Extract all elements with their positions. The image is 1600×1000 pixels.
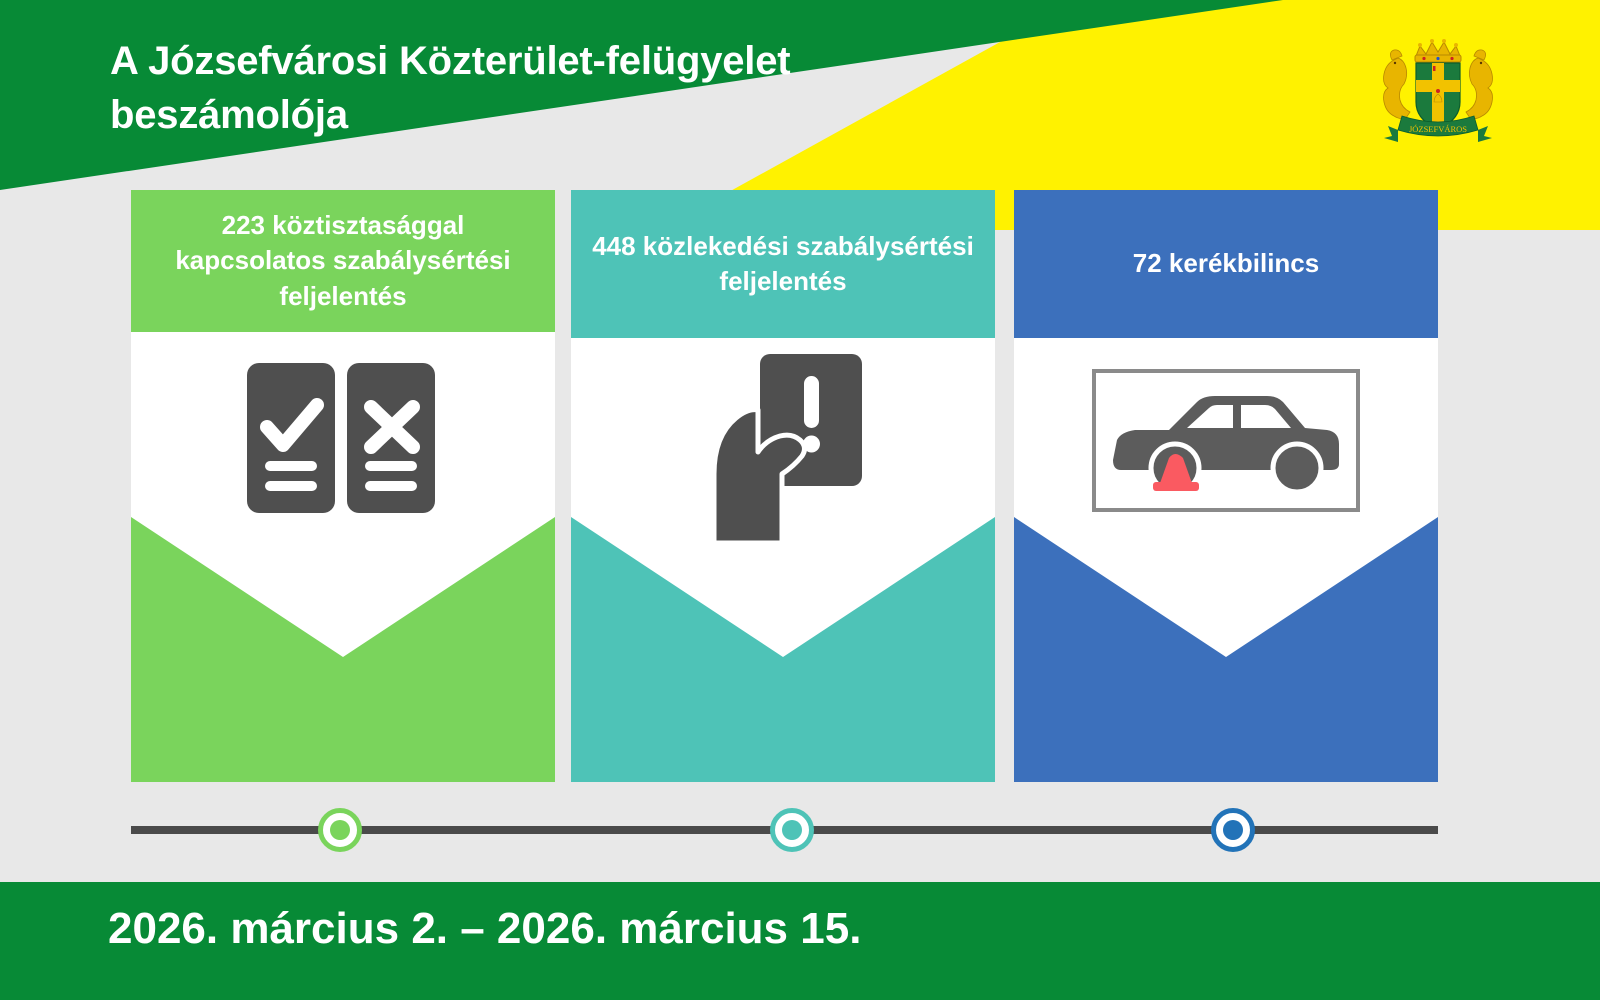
stat-card-koztisztasag[interactable]: 223 köztisztasággal kapcsolatos szabálys… bbox=[131, 190, 555, 782]
timeline-marker-2[interactable] bbox=[770, 808, 814, 852]
page-title: A Józsefvárosi Közterület-felügyelet bes… bbox=[110, 34, 790, 142]
jozsefvaros-coat-of-arms-icon: JÓZSEFVÁROS bbox=[1358, 30, 1518, 150]
stat-card-kozlekedes[interactable]: 448 közlekedési szabálysértési feljelent… bbox=[571, 190, 995, 782]
stat-card-kozlekedes-chevron bbox=[571, 517, 995, 782]
car-wheel-rear bbox=[1273, 444, 1321, 492]
shield-icon bbox=[1416, 63, 1460, 129]
timeline-marker-3-core bbox=[1223, 820, 1243, 840]
reject-line-1 bbox=[365, 461, 417, 471]
wheel-clamp-base bbox=[1153, 482, 1199, 491]
stat-card-kozlekedes-icon-wrap bbox=[571, 340, 995, 555]
stat-card-koztisztasag-chevron bbox=[131, 517, 555, 782]
timeline-bar bbox=[131, 826, 1438, 834]
hand-holding-warning-ticket-icon bbox=[696, 348, 871, 548]
stat-card-kerekbilincs-label: 72 kerékbilincs bbox=[1014, 190, 1438, 338]
page-title-line-1: A Józsefvárosi Közterület-felügyelet bbox=[110, 34, 790, 88]
stat-card-koztisztasag-label: 223 köztisztasággal kapcsolatos szabálys… bbox=[131, 190, 555, 332]
page-title-line-2: beszámolója bbox=[110, 88, 790, 142]
crest-banner-text: JÓZSEFVÁROS bbox=[1409, 124, 1467, 134]
stat-card-kozlekedes-label: 448 közlekedési szabálysértési feljelent… bbox=[571, 190, 995, 338]
approve-line-1 bbox=[265, 461, 317, 471]
stat-card-kerekbilincs[interactable]: 72 kerékbilincs bbox=[1014, 190, 1438, 782]
crown-icon bbox=[1415, 39, 1461, 62]
stat-card-kerekbilincs-icon-wrap bbox=[1014, 345, 1438, 535]
timeline-marker-2-core bbox=[782, 820, 802, 840]
infographic-stage: A Józsefvárosi Közterület-felügyelet bes… bbox=[0, 0, 1600, 1000]
timeline-marker-1-core bbox=[330, 820, 350, 840]
lion-supporter-left-icon bbox=[1384, 50, 1411, 119]
exclamation-bar bbox=[804, 376, 819, 428]
stat-card-kerekbilincs-chevron bbox=[1014, 517, 1438, 782]
report-period: 2026. március 2. – 2026. március 15. bbox=[108, 904, 861, 954]
checklist-approve-reject-icon bbox=[243, 361, 443, 516]
footer-bar: 2026. március 2. – 2026. március 15. bbox=[0, 882, 1600, 1000]
approve-line-2 bbox=[265, 481, 317, 491]
reject-line-2 bbox=[365, 481, 417, 491]
car-wheel-clamp-icon bbox=[1091, 368, 1361, 513]
griffin-supporter-right-icon bbox=[1466, 50, 1493, 119]
timeline-marker-3[interactable] bbox=[1211, 808, 1255, 852]
timeline-marker-1[interactable] bbox=[318, 808, 362, 852]
stat-card-koztisztasag-icon-wrap bbox=[131, 338, 555, 538]
